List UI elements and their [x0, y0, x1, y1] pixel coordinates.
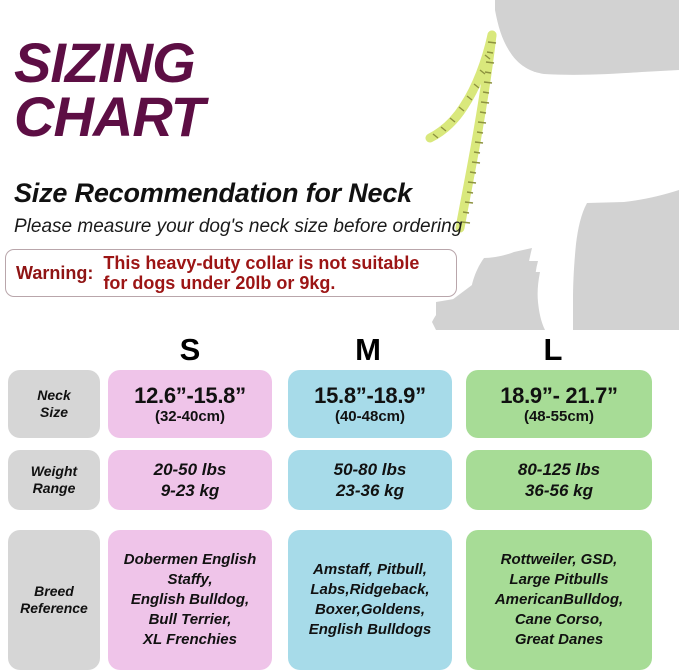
- neck-size-l-main: 18.9”- 21.7”: [500, 383, 617, 408]
- breed-s-line-2: Staffy,: [167, 570, 212, 590]
- breed-l-line-1: Rottweiler, GSD,: [501, 550, 618, 570]
- neck-size-l-sub: (48-55cm): [524, 408, 594, 426]
- title-line-2: CHART: [14, 90, 484, 144]
- row-label-neck-size: Neck Size: [8, 370, 100, 438]
- page-title: SIZING CHART: [14, 36, 484, 144]
- size-header-m: M: [338, 332, 398, 368]
- row-label-weight-range: Weight Range: [8, 450, 100, 510]
- weight-m-kg: 23-36 kg: [336, 480, 404, 501]
- size-header-l: L: [523, 332, 583, 368]
- warning-box: Warning: This heavy-duty collar is not s…: [5, 249, 457, 297]
- cell-breed-reference-m: Amstaff, Pitbull, Labs,Ridgeback, Boxer,…: [288, 530, 452, 670]
- sizing-chart-page: SIZING CHART Size Recommendation for Nec…: [0, 0, 679, 672]
- cell-neck-size-l: 18.9”- 21.7” (48-55cm): [466, 370, 652, 438]
- row-label-weight-line-2: Range: [33, 480, 76, 497]
- row-label-breed-line-1: Breed: [34, 583, 74, 600]
- breed-s-line-3: English Bulldog,: [131, 590, 249, 610]
- warning-text-line-1: This heavy-duty collar is not suitable: [103, 253, 419, 273]
- weight-m-lbs: 50-80 lbs: [334, 459, 407, 480]
- warning-text-line-2: for dogs under 20lb or 9kg.: [103, 273, 419, 293]
- breed-l-line-5: Great Danes: [515, 630, 603, 650]
- row-label-neck-line-2: Size: [40, 404, 68, 421]
- breed-l-line-2: Large Pitbulls: [509, 570, 608, 590]
- neck-size-s-main: 12.6”-15.8”: [134, 383, 246, 408]
- breed-m-line-3: Boxer,Goldens,: [315, 600, 425, 620]
- subtitle: Size Recommendation for Neck: [14, 178, 412, 209]
- row-label-weight-line-1: Weight: [31, 463, 77, 480]
- neck-size-m-sub: (40-48cm): [335, 408, 405, 426]
- weight-l-lbs: 80-125 lbs: [518, 459, 600, 480]
- breed-s-line-5: XL Frenchies: [143, 630, 237, 650]
- breed-m-line-1: Amstaff, Pitbull,: [313, 560, 427, 580]
- row-label-neck-line-1: Neck: [37, 387, 70, 404]
- row-label-breed-reference: Breed Reference: [8, 530, 100, 670]
- cell-neck-size-s: 12.6”-15.8” (32-40cm): [108, 370, 272, 438]
- breed-l-line-4: Cane Corso,: [515, 610, 603, 630]
- measure-instruction: Please measure your dog's neck size befo…: [14, 216, 462, 238]
- weight-s-kg: 9-23 kg: [161, 480, 220, 501]
- title-line-1: SIZING: [14, 36, 484, 90]
- cell-breed-reference-l: Rottweiler, GSD, Large Pitbulls American…: [466, 530, 652, 670]
- breed-l-line-3: AmericanBulldog,: [495, 590, 623, 610]
- breed-s-line-4: Bull Terrier,: [149, 610, 232, 630]
- breed-m-line-2: Labs,Ridgeback,: [310, 580, 429, 600]
- row-label-breed-line-2: Reference: [20, 600, 88, 617]
- breed-m-line-4: English Bulldogs: [309, 620, 432, 640]
- weight-l-kg: 36-56 kg: [525, 480, 593, 501]
- cell-breed-reference-s: Dobermen English Staffy, English Bulldog…: [108, 530, 272, 670]
- cell-weight-range-s: 20-50 lbs 9-23 kg: [108, 450, 272, 510]
- neck-size-m-main: 15.8”-18.9”: [314, 383, 426, 408]
- cell-weight-range-m: 50-80 lbs 23-36 kg: [288, 450, 452, 510]
- cell-neck-size-m: 15.8”-18.9” (40-48cm): [288, 370, 452, 438]
- breed-s-line-1: Dobermen English: [124, 550, 257, 570]
- cell-weight-range-l: 80-125 lbs 36-56 kg: [466, 450, 652, 510]
- warning-text: This heavy-duty collar is not suitable f…: [103, 253, 419, 293]
- warning-label: Warning:: [16, 263, 93, 284]
- weight-s-lbs: 20-50 lbs: [154, 459, 227, 480]
- size-header-s: S: [160, 332, 220, 368]
- neck-size-s-sub: (32-40cm): [155, 408, 225, 426]
